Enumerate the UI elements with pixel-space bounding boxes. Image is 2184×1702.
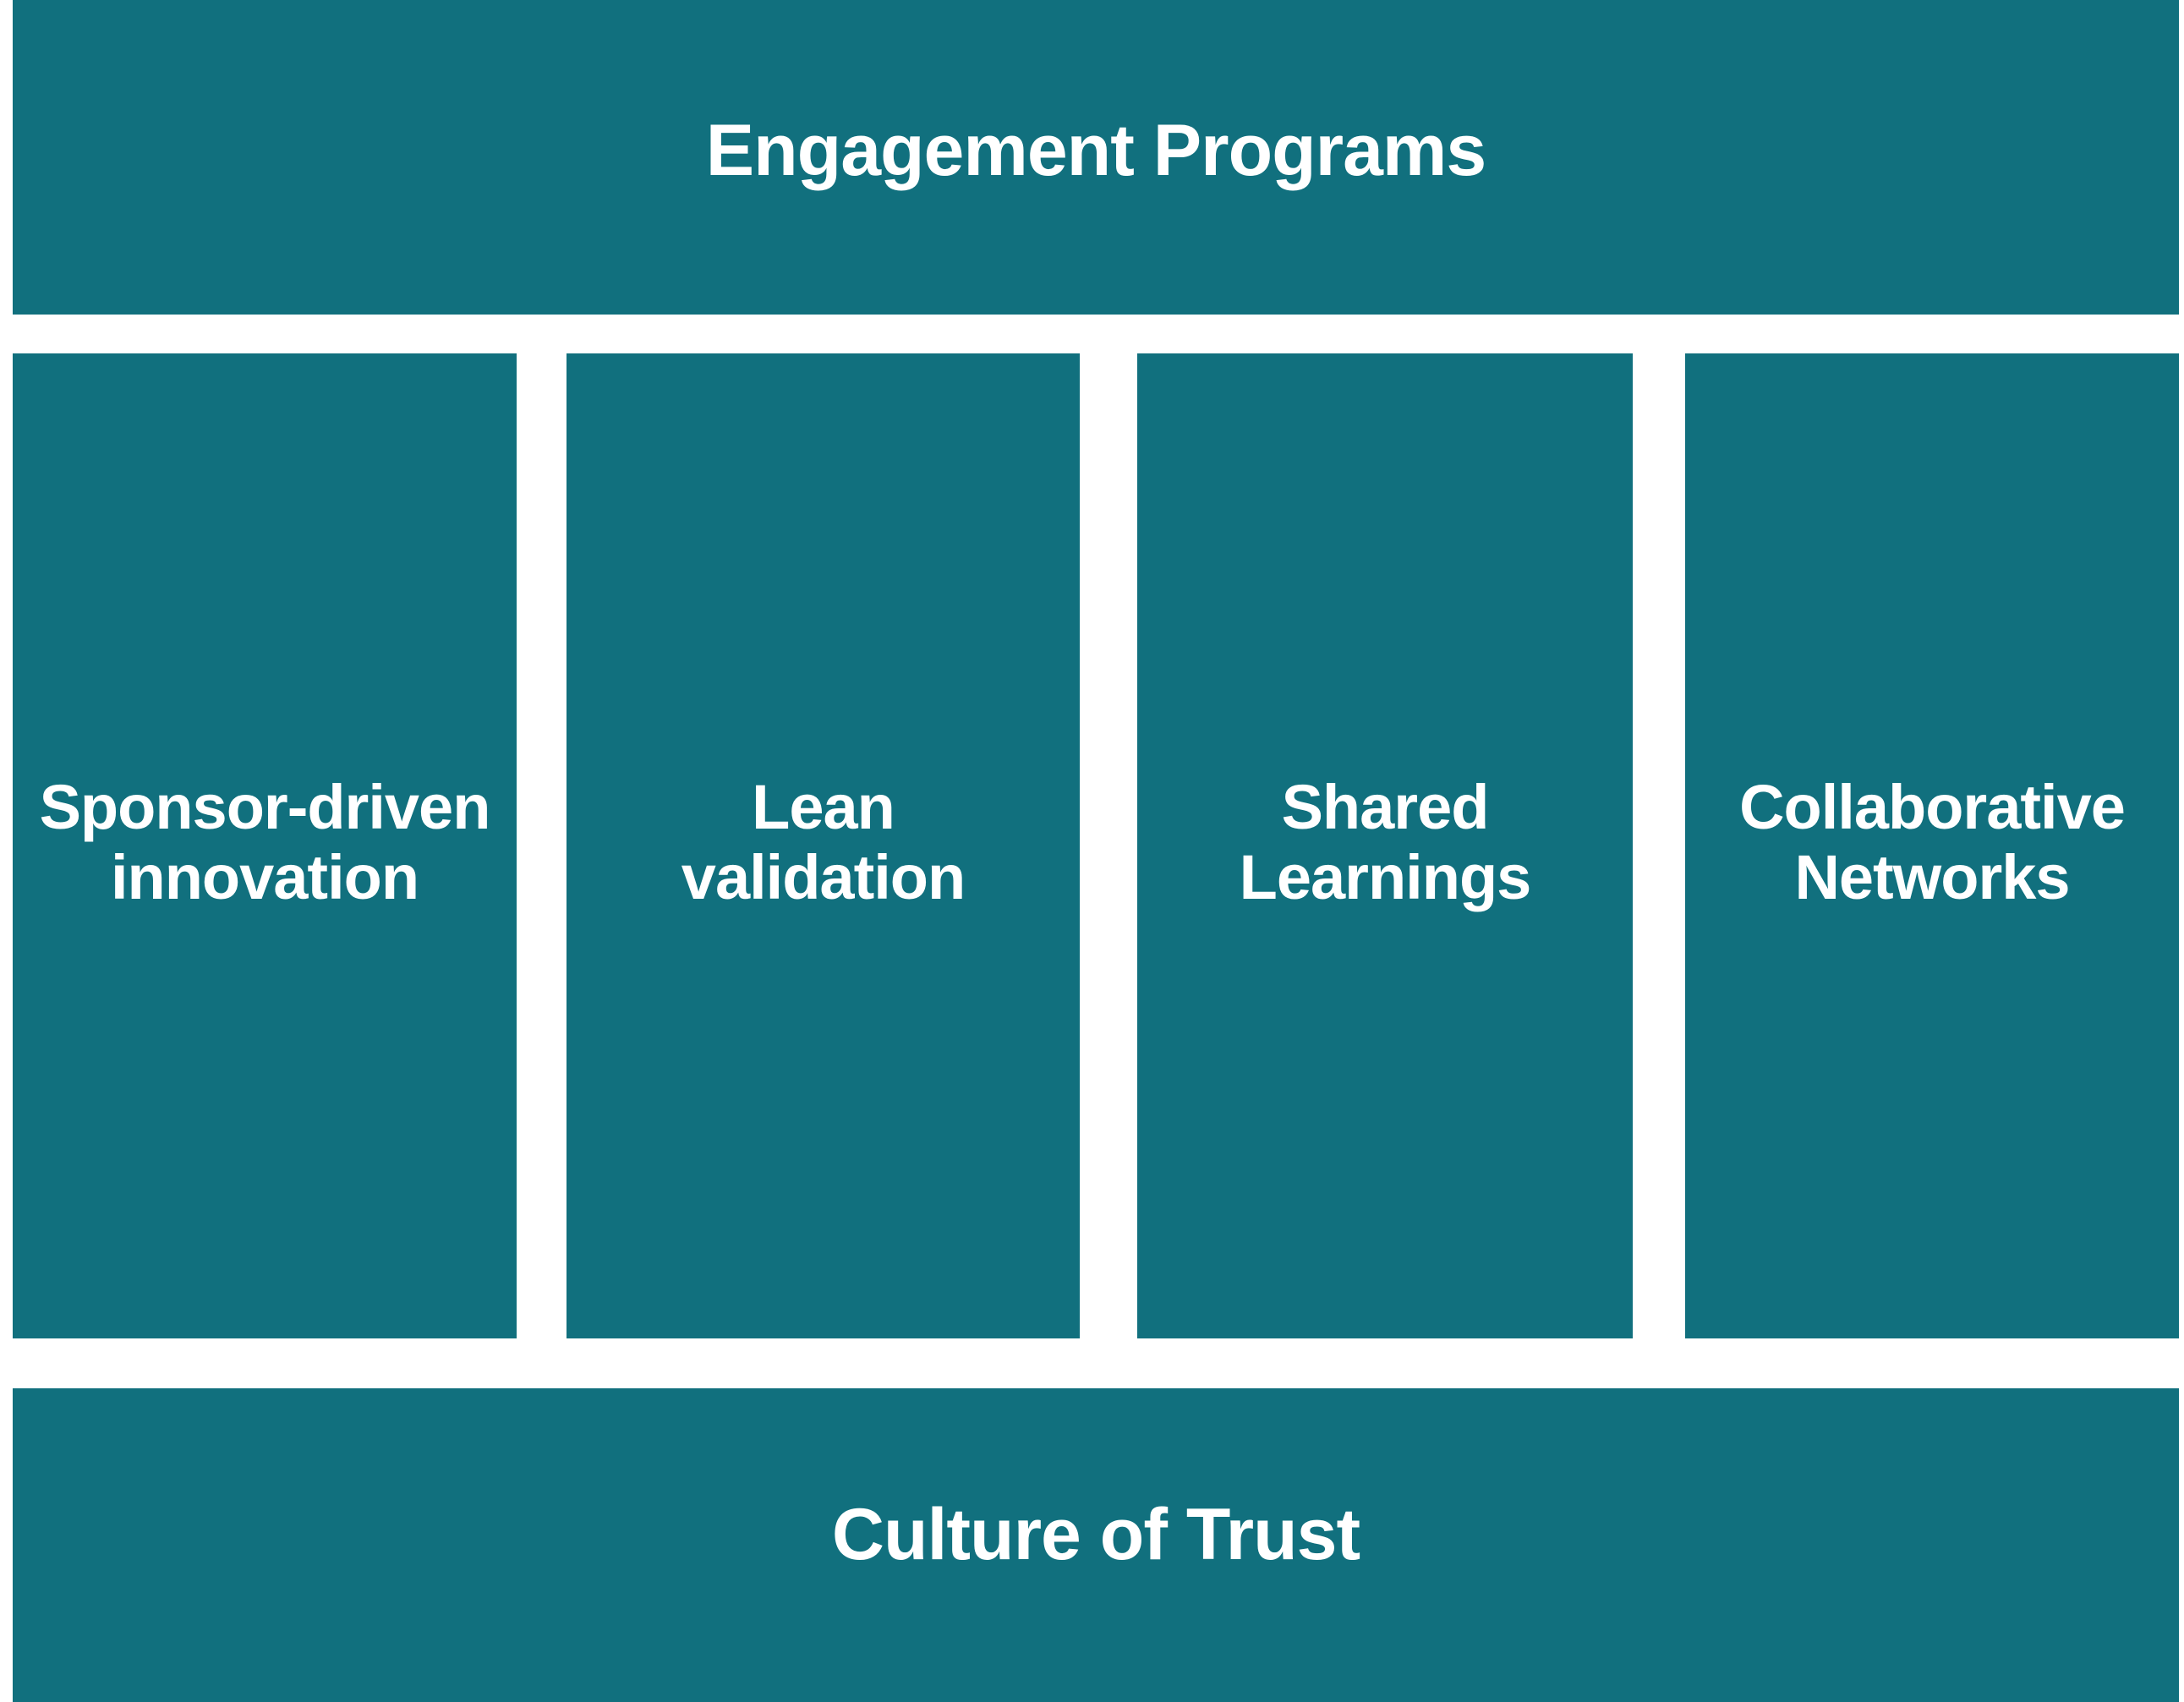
pillar-shared-learnings[interactable]: Shared Learnings [1137, 353, 1633, 1338]
pillar-label-sponsor-driven-innovation: Sponsor-driven innovation [13, 773, 517, 913]
header-banner-label: Engagement Programs [13, 110, 2179, 191]
pillar-lean-validation[interactable]: Lean validation [567, 353, 1080, 1338]
pillar-label-shared-learnings: Shared Learnings [1137, 773, 1633, 913]
footer-banner-label: Culture of Trust [13, 1494, 2179, 1575]
pillar-sponsor-driven-innovation[interactable]: Sponsor-driven innovation [13, 353, 517, 1338]
pillars-row: Sponsor-driven innovation Lean validatio… [0, 353, 2184, 1338]
pillar-label-collaborative-networks: Collaborative Networks [1685, 773, 2179, 913]
header-banner-engagement-programs[interactable]: Engagement Programs [13, 0, 2179, 315]
pillar-collaborative-networks[interactable]: Collaborative Networks [1685, 353, 2179, 1338]
pillar-label-lean-validation: Lean validation [567, 773, 1080, 913]
footer-banner-culture-of-trust[interactable]: Culture of Trust [13, 1388, 2179, 1702]
engagement-programs-diagram: Engagement Programs Sponsor-driven innov… [0, 0, 2184, 1702]
